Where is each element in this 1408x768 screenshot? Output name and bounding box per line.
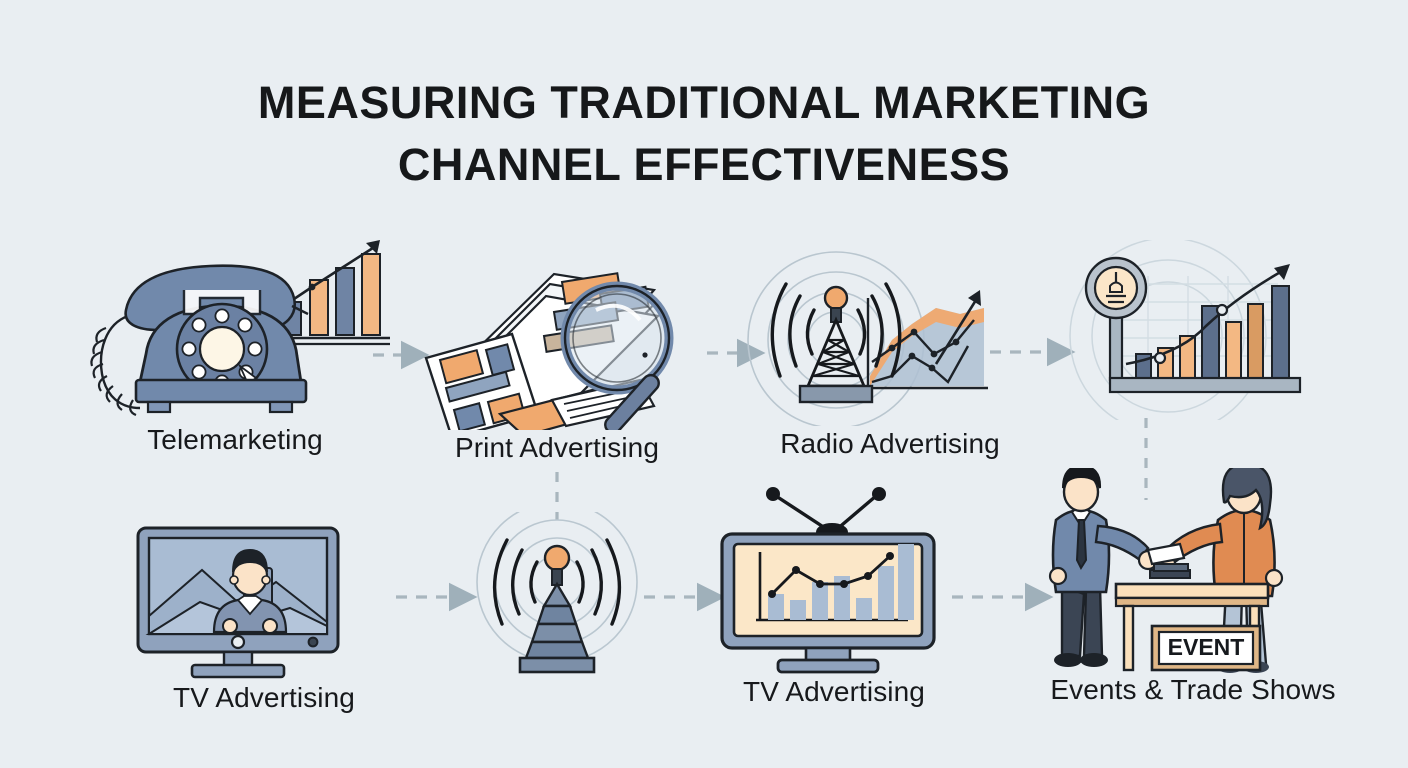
retro-tv-with-chart-icon xyxy=(700,484,968,674)
radio-tower-with-area-chart-icon xyxy=(740,236,1040,426)
node-print-advertising[interactable]: Print Advertising xyxy=(404,238,710,468)
node-tv-advertising-anchor[interactable]: TV Advertising xyxy=(130,520,398,720)
broadcast-tower-waves-icon xyxy=(462,512,652,682)
trade-show-booth-handshake-icon: EVENT xyxy=(1028,468,1358,676)
node-telemarketing[interactable]: Telemarketing xyxy=(80,232,390,464)
node-label-radio-advertising: Radio Advertising xyxy=(740,428,1040,460)
gauge-with-bar-chart-icon xyxy=(1048,240,1358,420)
node-broadcast-tower[interactable] xyxy=(462,512,652,682)
booth-sign-text: EVENT xyxy=(1168,634,1245,660)
infographic-canvas: Measuring Traditional Marketing Channel … xyxy=(0,0,1408,768)
node-label-print-advertising: Print Advertising xyxy=(404,432,710,464)
node-label-telemarketing: Telemarketing xyxy=(80,424,390,456)
node-label-tv-advertising-anchor: TV Advertising xyxy=(130,682,398,714)
node-analytics-gauge[interactable] xyxy=(1048,240,1358,420)
node-radio-advertising[interactable]: Radio Advertising xyxy=(740,236,1040,468)
node-tv-advertising-chart[interactable]: TV Advertising xyxy=(700,484,968,716)
node-label-tv-advertising-chart: TV Advertising xyxy=(700,676,968,708)
newspaper-stack-with-magnifier-icon xyxy=(404,238,710,430)
node-events-trade-shows[interactable]: EVENT Events & Trade Shows xyxy=(1028,468,1358,718)
rotary-telephone-with-bar-chart-icon xyxy=(80,232,390,422)
flatscreen-tv-news-anchor-icon xyxy=(130,520,398,680)
node-label-events-trade-shows: Events & Trade Shows xyxy=(1028,674,1358,706)
